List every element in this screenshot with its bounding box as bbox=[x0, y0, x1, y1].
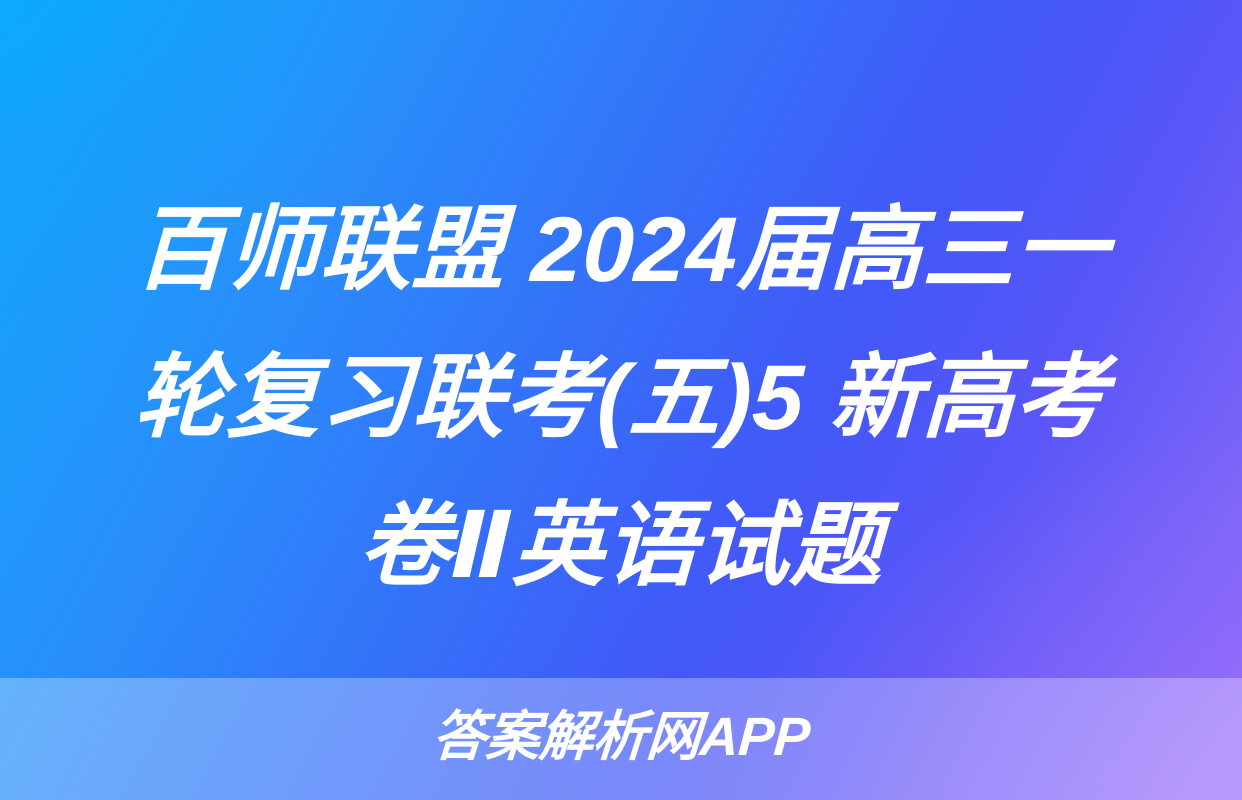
exam-cover-card: 百师联盟 2024届高三一 轮复习联考(五)5 新高考 卷Ⅱ英语试题 答案解析网… bbox=[0, 0, 1242, 800]
watermark-text: 答案解析网APP bbox=[0, 706, 1242, 768]
